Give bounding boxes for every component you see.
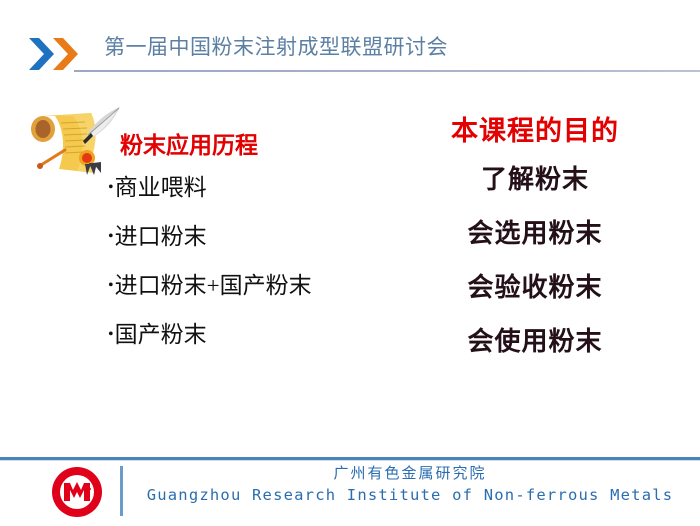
- footer-org-name-cn: 广州有色金属研究院: [140, 464, 680, 484]
- bullet-glyph: •: [108, 174, 114, 202]
- list-item: 会选用粉末: [400, 218, 670, 250]
- footer-vertical-divider: [120, 466, 123, 516]
- slide-canvas: 第一届中国粉末注射成型联盟研讨会: [0, 0, 700, 525]
- list-item: •进口粉末+国产粉末: [108, 272, 408, 300]
- bullet-glyph: •: [108, 321, 114, 349]
- list-item-label: 进口粉末: [115, 224, 207, 249]
- header-divider-line: [74, 70, 700, 72]
- footer-org-name-en: Guangzhou Research Institute of Non-ferr…: [140, 484, 680, 506]
- bullet-glyph: •: [108, 272, 114, 300]
- slide-header: 第一届中国粉末注射成型联盟研讨会: [0, 32, 700, 84]
- left-bullet-list: •商业喂料 •进口粉末 •进口粉末+国产粉末 •国产粉末: [108, 174, 408, 349]
- list-item-label: 进口粉末+国产粉末: [115, 273, 312, 298]
- right-column-heading: 本课程的目的: [400, 114, 670, 148]
- list-item: 会使用粉末: [400, 326, 670, 358]
- header-title: 第一届中国粉末注射成型联盟研讨会: [104, 32, 448, 62]
- footer-organization: 广州有色金属研究院 Guangzhou Research Institute o…: [140, 464, 680, 506]
- list-item: 了解粉末: [400, 164, 670, 196]
- list-item-label: 商业喂料: [115, 175, 207, 200]
- right-objective-list: 了解粉末 会选用粉末 会验收粉末 会使用粉末: [400, 164, 670, 358]
- list-item: •国产粉末: [108, 321, 408, 349]
- bullet-glyph: •: [108, 223, 114, 251]
- header-chevrons: [27, 37, 97, 71]
- left-column-heading: 粉末应用历程: [120, 132, 408, 160]
- chevron-right-orange-icon: [51, 37, 81, 71]
- list-item-label: 国产粉末: [115, 322, 207, 347]
- list-item: 会验收粉末: [400, 272, 670, 304]
- list-item: •商业喂料: [108, 174, 408, 202]
- right-content-column: 本课程的目的 了解粉末 会选用粉末 会验收粉末 会使用粉末: [400, 114, 670, 380]
- grinm-logo-icon: [46, 463, 108, 521]
- slide-footer: 广州有色金属研究院 Guangzhou Research Institute o…: [0, 460, 700, 525]
- list-item: •进口粉末: [108, 223, 408, 251]
- left-content-column: 粉末应用历程 •商业喂料 •进口粉末 •进口粉末+国产粉末 •国产粉末: [108, 132, 408, 370]
